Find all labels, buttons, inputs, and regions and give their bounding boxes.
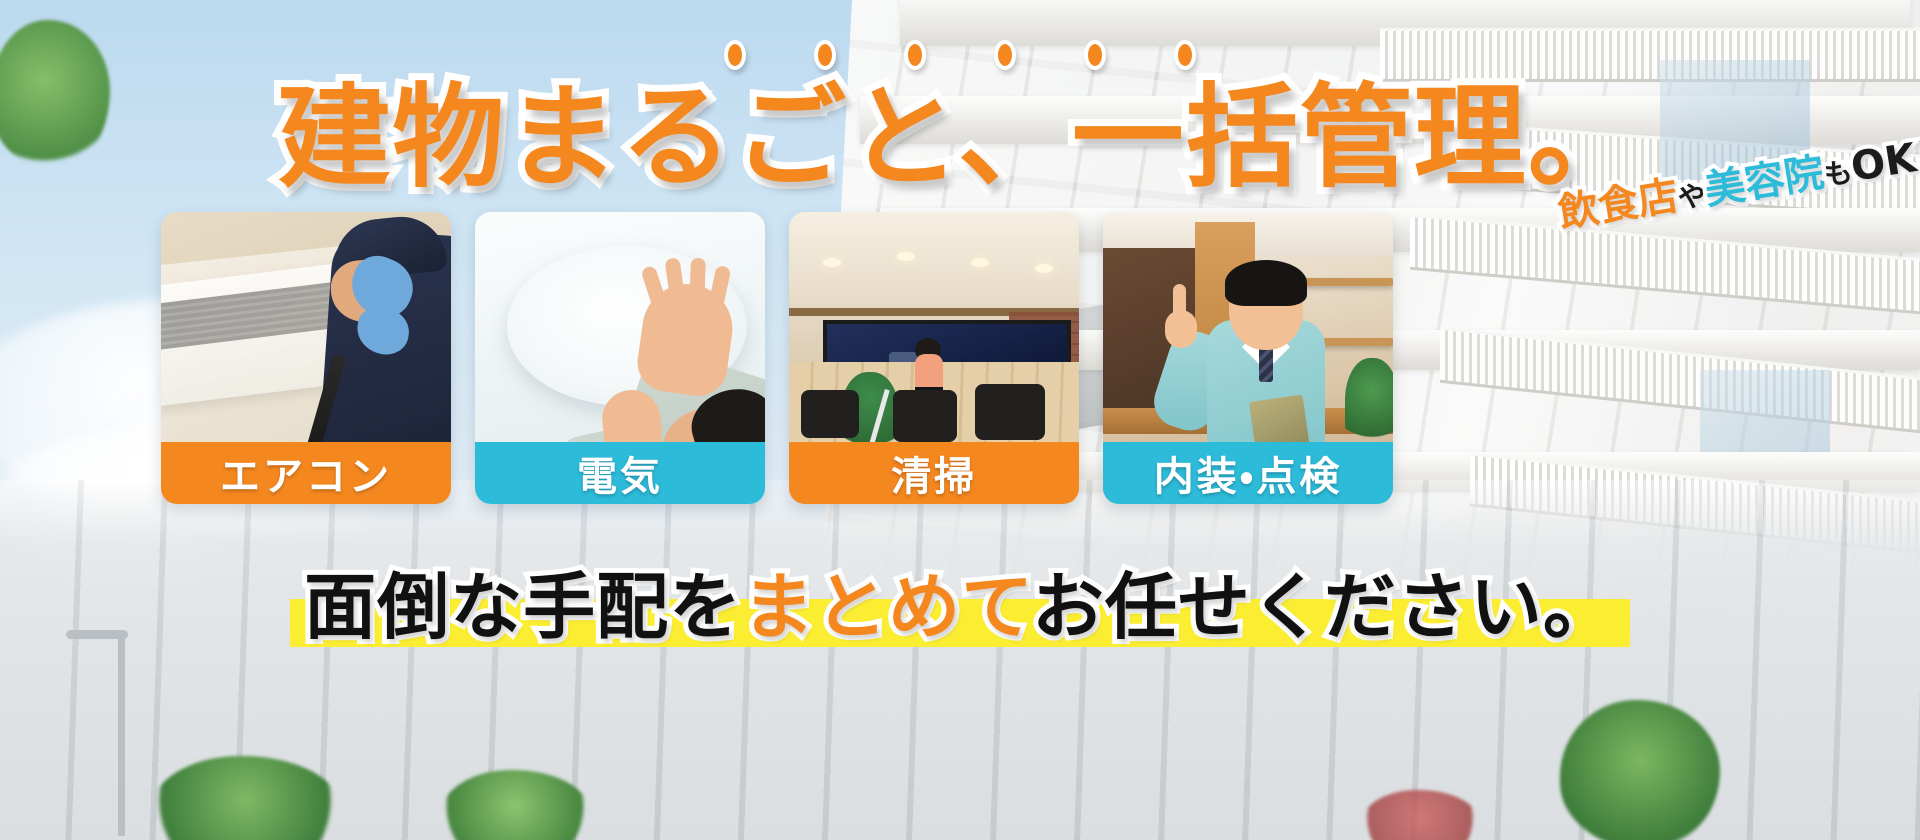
street-lamp-pole	[118, 636, 125, 836]
yellow-marker-highlight: 面倒な手配をまとめてお任せください。	[290, 548, 1630, 653]
service-card-cleaning[interactable]: 清掃	[789, 212, 1079, 504]
bottom-tagline: 面倒な手配をまとめてお任せください。	[0, 548, 1920, 653]
worker-finger	[689, 258, 706, 310]
staff-hair	[1225, 260, 1307, 306]
salon-chair	[893, 390, 957, 442]
badge-ok-text: OK！	[1848, 129, 1920, 191]
tagline-accent: まとめて	[742, 565, 1032, 649]
service-card-list: エアコン 電気	[161, 212, 1393, 504]
ceiling-spotlight	[971, 258, 989, 267]
card-label-interior-inspection: 内装・点検	[1103, 442, 1393, 504]
service-card-electric[interactable]: 電気	[475, 212, 765, 504]
service-card-aircon[interactable]: エアコン	[161, 212, 451, 504]
foliage	[1560, 700, 1720, 840]
card-label-aircon: エアコン	[161, 442, 451, 504]
ceiling-spotlight	[1035, 264, 1053, 273]
ceiling-spotlight	[823, 258, 841, 267]
card-label-cleaning: 清掃	[789, 442, 1079, 504]
ceiling-spotlight	[897, 252, 915, 261]
salon-chair	[801, 390, 859, 438]
service-card-interior-inspection[interactable]: 内装・点検	[1103, 212, 1393, 504]
salon-chair	[975, 384, 1045, 440]
pointing-finger	[1173, 284, 1186, 318]
tagline-lead: 面倒な手配を	[304, 565, 742, 649]
tagline-tail: お任せください。	[1032, 565, 1616, 649]
card-label-electric: 電気	[475, 442, 765, 504]
potted-plant	[1345, 358, 1393, 450]
